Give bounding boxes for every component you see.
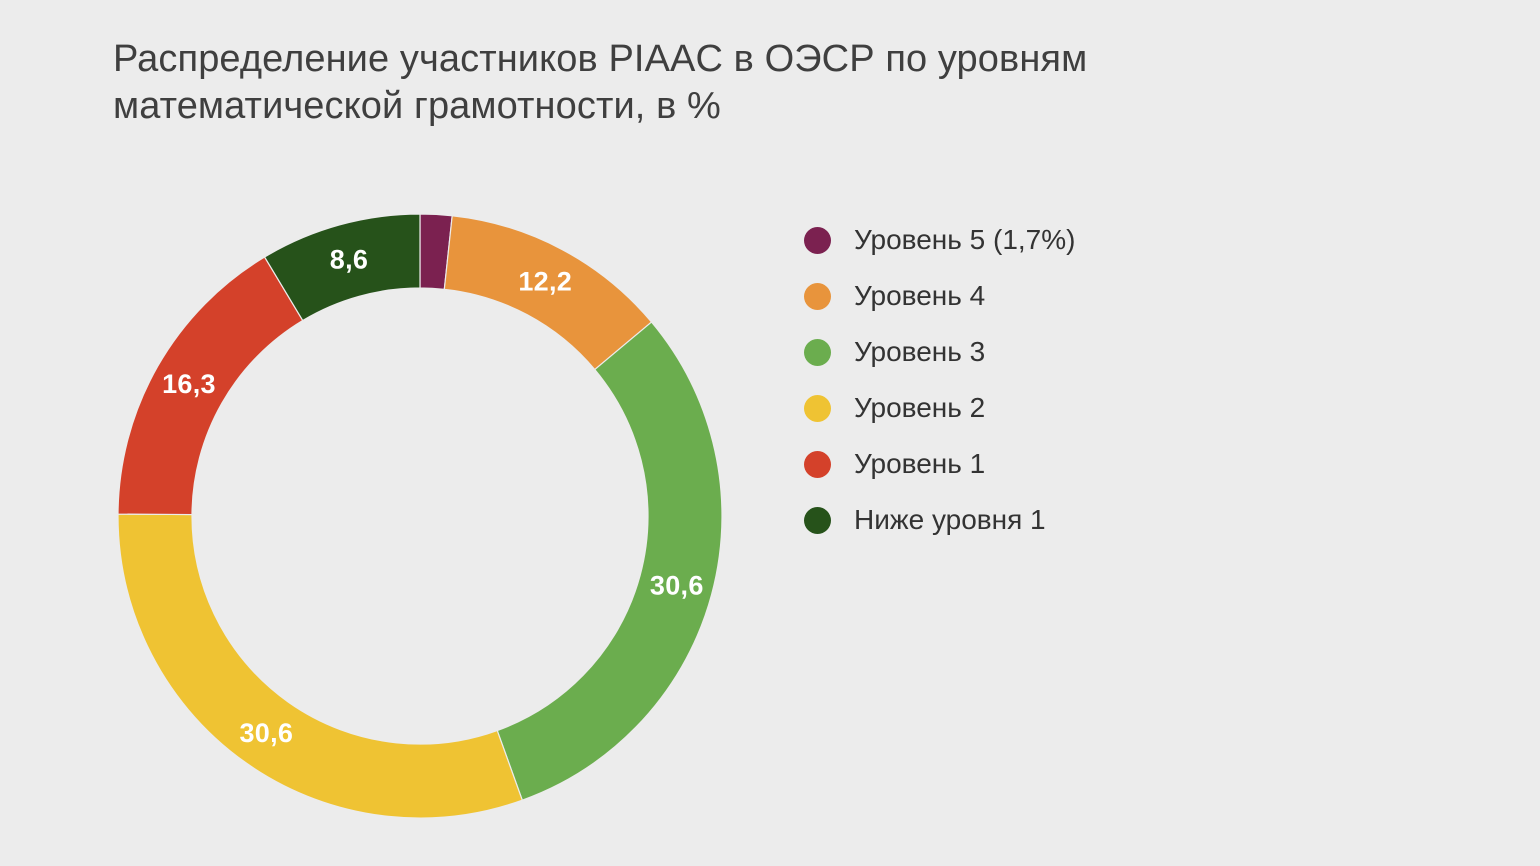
legend-swatch-icon [804,507,831,534]
donut-slice-value-label: 12,2 [518,266,572,296]
legend-item[interactable]: Уровень 3 [804,324,1284,380]
legend-item-label: Уровень 3 [854,337,985,367]
legend-item[interactable]: Уровень 2 [804,380,1284,436]
legend-swatch-icon [804,283,831,310]
legend-item-label: Уровень 2 [854,393,985,423]
legend-swatch-icon [804,451,831,478]
legend-swatch-icon [804,395,831,422]
legend-item[interactable]: Уровень 1 [804,436,1284,492]
donut-slice[interactable] [497,322,722,800]
legend-item-label: Уровень 5 (1,7%) [854,225,1075,255]
legend-item[interactable]: Ниже уровня 1 [804,492,1284,548]
donut-slice-group [118,214,722,818]
donut-slice-value-label: 30,6 [650,570,704,600]
donut-chart: 12,230,630,616,38,6 [0,0,840,866]
chart-figure: Распределение участников PIAAC в ОЭСР по… [0,0,1540,866]
donut-slice[interactable] [118,514,522,818]
legend-item[interactable]: Уровень 4 [804,268,1284,324]
legend-item-label: Уровень 4 [854,281,985,311]
donut-chart-svg: 12,230,630,616,38,6 [0,0,840,866]
legend-item[interactable]: Уровень 5 (1,7%) [804,212,1284,268]
donut-slice-value-label: 30,6 [239,718,293,748]
legend-swatch-icon [804,227,831,254]
legend-item-label: Уровень 1 [854,449,985,479]
legend-item-label: Ниже уровня 1 [854,505,1046,535]
donut-slice-value-label: 8,6 [330,245,368,275]
chart-legend: Уровень 5 (1,7%)Уровень 4Уровень 3Уровен… [804,212,1284,548]
legend-swatch-icon [804,339,831,366]
donut-slice-value-label: 16,3 [162,369,216,399]
